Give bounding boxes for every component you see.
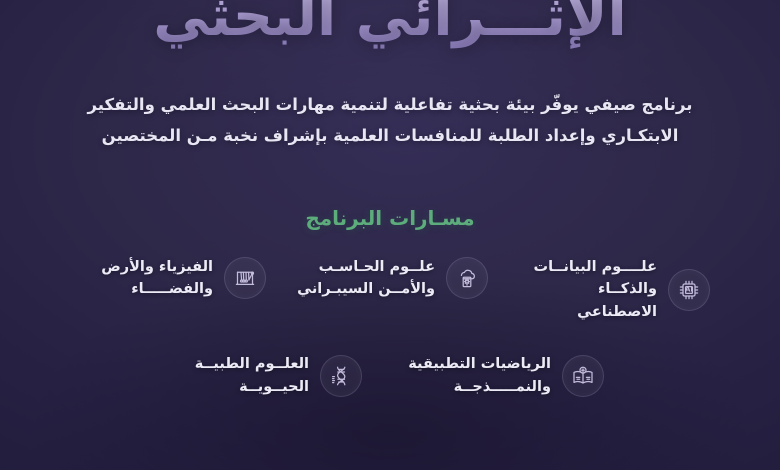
tracks-row-first: AI علــــوم البيانــات والذكــاء الاصطنا… xyxy=(68,252,712,327)
track-card-applied-math-modelling[interactable]: الرياضيات التطبيقية والنمـــــذجــة xyxy=(406,349,606,402)
track-label: الفيزياء والأرض والفضـــــاء xyxy=(70,256,213,301)
track-card-biomedical-sciences[interactable]: العلــوم الطبيــة الحيــويــة xyxy=(164,349,364,402)
math-book-icon xyxy=(562,355,604,397)
track-card-physics-earth-space[interactable]: الفيزياء والأرض والفضـــــاء xyxy=(68,252,268,305)
svg-text:AI: AI xyxy=(685,285,693,293)
page-description: برنامج صيفي يوفّر بيئة بحثية تفاعلية لتن… xyxy=(80,90,700,151)
cloud-security-icon xyxy=(446,257,488,299)
dna-icon xyxy=(320,355,362,397)
track-label: علــــوم البيانــات والذكــاء الاصطناعي xyxy=(514,256,657,323)
tracks-section-heading: مسـارات البرنامج xyxy=(0,206,780,230)
promo-page: الإثـــرائي البحثي برنامج صيفي يوفّر بيئ… xyxy=(0,0,780,470)
page-title: الإثـــرائي البحثي xyxy=(0,0,780,50)
newtons-cradle-icon xyxy=(224,257,266,299)
ai-chip-icon: AI xyxy=(668,269,710,311)
track-label: الرياضيات التطبيقية والنمـــــذجــة xyxy=(408,353,551,398)
track-card-data-science-ai[interactable]: AI علــــوم البيانــات والذكــاء الاصطنا… xyxy=(512,252,712,327)
tracks-list: AI علــــوم البيانــات والذكــاء الاصطنا… xyxy=(0,252,780,402)
tracks-row-second: الرياضيات التطبيقية والنمـــــذجــة العل… xyxy=(164,349,616,402)
track-card-cs-cybersecurity[interactable]: علــوم الحـاسـب والأمــن السيبـراني xyxy=(290,252,490,305)
track-label: العلــوم الطبيــة الحيــويــة xyxy=(166,353,309,398)
track-label: علــوم الحـاسـب والأمــن السيبـراني xyxy=(292,256,435,301)
